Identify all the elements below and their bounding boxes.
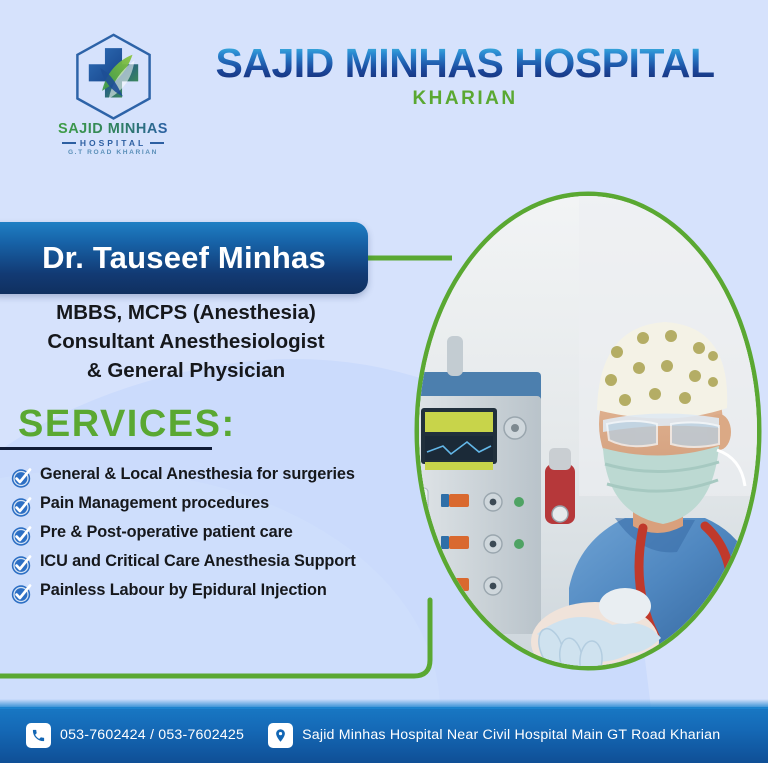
address-contact[interactable]: Sajid Minhas Hospital Near Civil Hospita… — [268, 723, 720, 748]
logo-tagline: G.T ROAD KHARIAN — [58, 150, 168, 157]
services-heading: SERVICES: — [18, 403, 236, 446]
address-text: Sajid Minhas Hospital Near Civil Hospita… — [302, 727, 720, 743]
services-heading-underline — [0, 447, 212, 450]
logo-wordmark: SAJID MINHAS HOSPITAL G.T ROAD KHARIAN — [58, 122, 168, 157]
logo-subtitle: HOSPITAL — [58, 139, 168, 148]
check-circle-icon — [10, 524, 34, 546]
logo-dash-left — [62, 142, 76, 144]
list-item: Pre & Post-operative patient care — [10, 522, 420, 546]
poster-header: SAJID MINHAS HOSPITAL G.T ROAD KHARIAN S… — [0, 0, 768, 175]
map-pin-icon — [268, 723, 293, 748]
phone-icon — [26, 723, 51, 748]
credentials-line-2: Consultant Anesthesiologist — [0, 327, 372, 356]
service-label: Pre & Post-operative patient care — [34, 522, 293, 543]
check-circle-icon — [10, 495, 34, 517]
service-label: ICU and Critical Care Anesthesia Support — [34, 551, 356, 572]
phone-contact[interactable]: 053-7602424 / 053-7602425 — [26, 723, 244, 748]
doctor-credentials: MBBS, MCPS (Anesthesia) Consultant Anest… — [0, 298, 372, 385]
logo-dash-right — [150, 142, 164, 144]
hospital-name-title: SAJID MINHAS HOSPITAL — [205, 42, 725, 85]
hospital-logo: SAJID MINHAS HOSPITAL G.T ROAD KHARIAN — [38, 32, 188, 157]
service-label: Pain Management procedures — [34, 493, 269, 514]
services-list: General & Local Anesthesia for surgeries… — [10, 464, 420, 609]
phone-number: 053-7602424 / 053-7602425 — [60, 727, 244, 743]
list-item: ICU and Critical Care Anesthesia Support — [10, 551, 420, 575]
doctor-name-banner: Dr. Tauseef Minhas — [0, 222, 368, 294]
logo-name: SAJID MINHAS — [58, 122, 168, 137]
service-label: Painless Labour by Epidural Injection — [34, 580, 327, 601]
title-block: SAJID MINHAS HOSPITAL KHARIAN — [205, 42, 725, 110]
check-circle-icon — [10, 553, 34, 575]
poster-canvas: SAJID MINHAS HOSPITAL G.T ROAD KHARIAN S… — [0, 0, 768, 763]
medical-cross-hexagon-leaf-logo-icon — [66, 32, 161, 120]
list-item: Pain Management procedures — [10, 493, 420, 517]
doctor-name: Dr. Tauseef Minhas — [28, 240, 326, 276]
contact-footer: 053-7602424 / 053-7602425 Sajid Minhas H… — [0, 707, 768, 763]
list-item: Painless Labour by Epidural Injection — [10, 580, 420, 604]
list-item: General & Local Anesthesia for surgeries — [10, 464, 420, 488]
check-circle-icon — [10, 582, 34, 604]
credentials-line-1: MBBS, MCPS (Anesthesia) — [0, 298, 372, 327]
service-label: General & Local Anesthesia for surgeries — [34, 464, 355, 485]
credentials-line-3: & General Physician — [0, 356, 372, 385]
doctor-photo — [419, 196, 757, 666]
hospital-city-subtitle: KHARIAN — [205, 88, 725, 110]
check-circle-icon — [10, 466, 34, 488]
